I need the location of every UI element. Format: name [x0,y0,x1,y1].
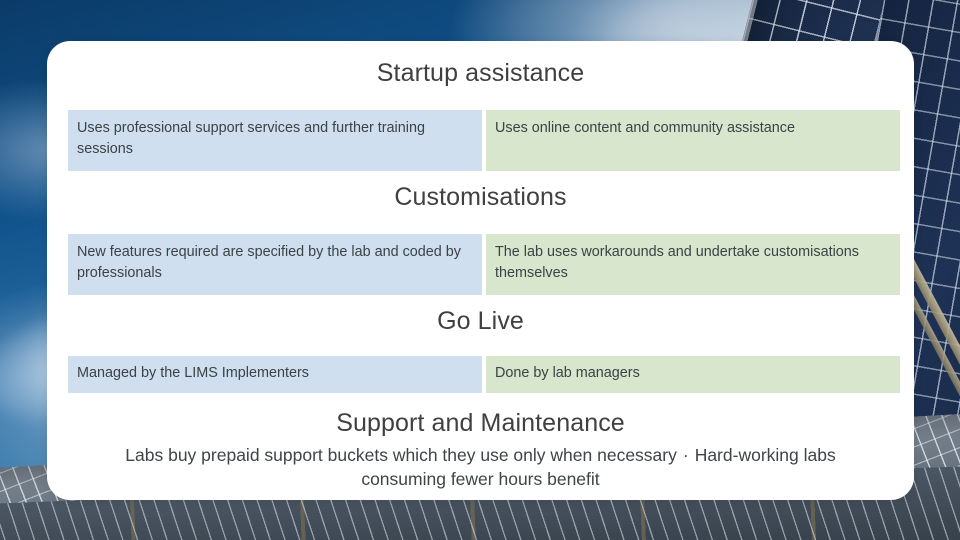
section-heading-go-live: Go Live [47,306,914,336]
row-customisations: New features required are specified by t… [47,234,914,295]
band-go-live-right: Done by lab managers [486,356,900,393]
section-body-support-and-maintenance: Labs buy prepaid support buckets which t… [47,443,914,491]
section-heading-customisations: Customisations [47,182,914,212]
slide-canvas: Startup assistance Uses professional sup… [0,0,960,540]
row-startup-assistance: Uses professional support services and f… [47,110,914,171]
band-customisations-right: The lab uses workarounds and undertake c… [486,234,900,295]
band-startup-assistance-left: Uses professional support services and f… [68,110,482,171]
section-heading-startup-assistance: Startup assistance [47,58,914,88]
section-support-and-maintenance: Support and Maintenance Labs buy prepaid… [47,408,914,491]
row-go-live: Managed by the LIMS Implementers Done by… [47,356,914,393]
band-go-live-left: Managed by the LIMS Implementers [68,356,482,393]
section-go-live: Go Live [47,306,914,336]
section-startup-assistance: Startup assistance [47,58,914,88]
section-customisations: Customisations [47,182,914,212]
content-card: Startup assistance Uses professional sup… [47,41,914,500]
band-customisations-left: New features required are specified by t… [68,234,482,295]
support-body-separator: · [677,445,695,465]
section-heading-support-and-maintenance: Support and Maintenance [47,408,914,438]
support-body-part-1: Labs buy prepaid support buckets which t… [125,445,677,465]
band-startup-assistance-right: Uses online content and community assist… [486,110,900,171]
